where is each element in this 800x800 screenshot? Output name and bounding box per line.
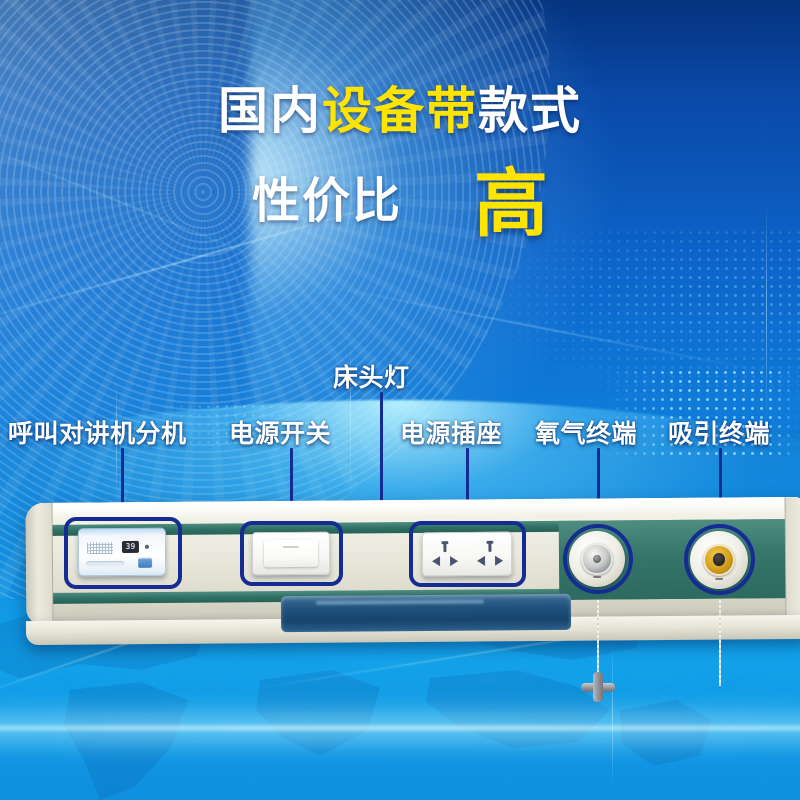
headline-part-1: 国内 (218, 83, 322, 139)
callout-label-oxygen-outlet: 氧气终端 (535, 414, 637, 450)
callout-label-bed-lamp: 床头灯 (333, 358, 410, 394)
callout-label-power-switch: 电源开关 (229, 414, 331, 450)
callout-label-power-socket: 电源插座 (400, 414, 502, 450)
panel-end-cap-right (785, 497, 800, 619)
promo-banner: 国内设备带款式 性价比高 呼叫对讲机分机 电源开关 床头灯 电源插座 氧气终端 … (0, 0, 800, 800)
subheadline-highlight: 高 (474, 167, 548, 241)
highlight-box-power-switch (240, 521, 343, 586)
highlight-box-suction-outlet (684, 524, 755, 595)
highlight-box-intercom (64, 517, 182, 589)
highlight-box-oxygen-outlet (563, 524, 633, 594)
pull-cord-oxygen[interactable] (597, 600, 599, 678)
subheadline: 性价比高 (0, 165, 800, 239)
panel-blue-rail-insert (281, 594, 571, 632)
headline-part-2: 款式 (478, 83, 582, 139)
pull-cord-suction[interactable] (719, 600, 721, 686)
callout-label-suction-outlet: 吸引终端 (668, 414, 770, 450)
headline: 国内设备带款式 (0, 86, 800, 136)
panel-end-cap-left (26, 503, 54, 625)
callout-label-intercom: 呼叫对讲机分机 (8, 414, 187, 450)
horizon-line (0, 726, 800, 730)
subheadline-text: 性价比 (252, 178, 402, 226)
pull-cord-handle-icon[interactable] (581, 672, 615, 702)
headline-highlight: 设备带 (322, 83, 478, 139)
highlight-box-power-socket (409, 521, 526, 587)
